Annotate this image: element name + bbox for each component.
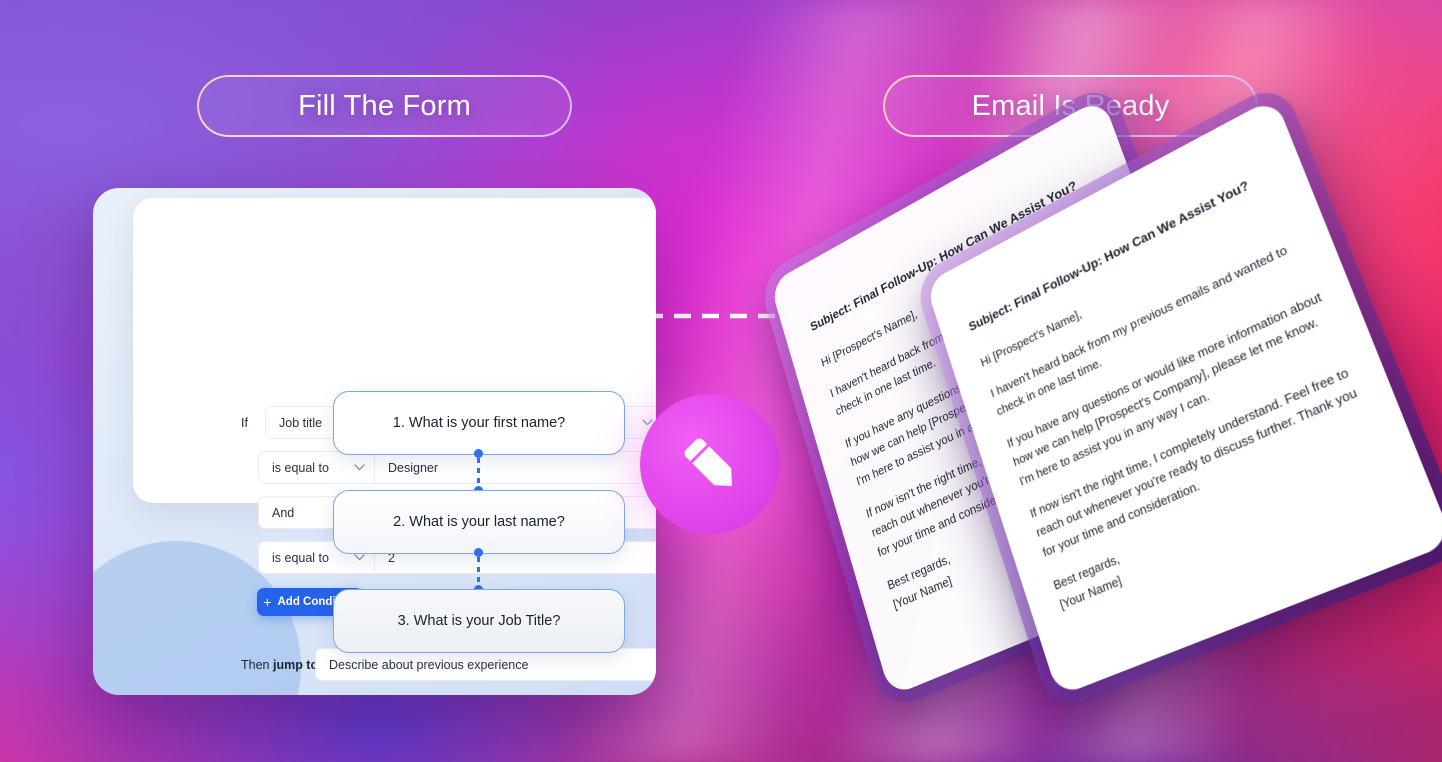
label-pill-fill-the-form: Fill The Form	[197, 75, 572, 137]
if-label: If	[241, 416, 265, 430]
poster-canvas: Fill The Form Email Is Ready If Job titl…	[0, 0, 1442, 762]
question-card-1[interactable]: 1. What is your first name?	[333, 391, 625, 455]
jump-to-label: Then jump to	[241, 658, 315, 672]
flow-connector-1	[474, 449, 483, 495]
plus-icon: +	[263, 595, 271, 609]
condition-value-1: Designer	[375, 461, 451, 475]
question-text-3: 3. What is your Job Title?	[398, 613, 561, 629]
if-field-value: Job title	[266, 416, 335, 430]
question-text-1: 1. What is your first name?	[393, 415, 565, 431]
pencil-icon	[673, 427, 747, 501]
edit-pencil-badge[interactable]	[640, 394, 780, 534]
connector-line	[477, 557, 479, 585]
jump-to-value: Describe about previous experience	[316, 658, 541, 672]
connector-line	[477, 458, 479, 486]
chevron-down-icon	[354, 554, 365, 561]
email-preview-stack: Subject: Final Follow-Up: How Can We Ass…	[760, 120, 1420, 740]
condition-operator-2: And	[259, 506, 307, 520]
condition-operator-1: is equal to	[259, 461, 342, 475]
connector-dot	[474, 449, 483, 458]
condition-operator-3: is equal to	[259, 551, 342, 565]
question-text-2: 2. What is your last name?	[393, 514, 565, 530]
question-card-2[interactable]: 2. What is your last name?	[333, 490, 625, 554]
question-card-3[interactable]: 3. What is your Job Title?	[333, 589, 625, 653]
condition-operator-select-1[interactable]: is equal to	[259, 452, 375, 483]
condition-value-input-1[interactable]: Designer	[375, 452, 656, 483]
flow-connector-2	[474, 548, 483, 594]
chevron-down-icon	[354, 464, 365, 471]
condition-row: is equal to Designer	[258, 451, 656, 484]
pill-label-left: Fill The Form	[298, 90, 471, 123]
condition-field-1[interactable]: is equal to Designer	[258, 451, 656, 484]
connector-dot	[474, 548, 483, 557]
